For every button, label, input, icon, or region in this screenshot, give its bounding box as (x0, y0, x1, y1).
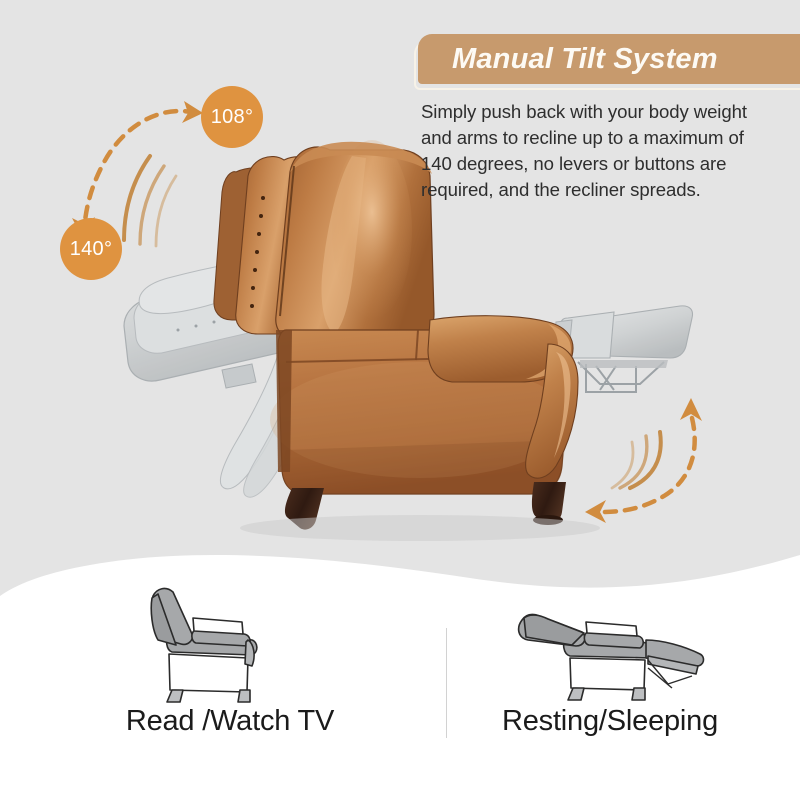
mode-label-resting-sleeping: Resting/Sleeping (450, 705, 770, 738)
top-background-panel (0, 0, 800, 620)
angle-badge-140: 140° (60, 218, 122, 280)
upright-chair-icon (151, 589, 257, 702)
mode-label-read-watch-tv: Read /Watch TV (60, 705, 400, 738)
banner-fill: Manual Tilt System (418, 34, 800, 84)
angle-badge-108: 108° (201, 86, 263, 148)
reclined-chair-icon (519, 614, 704, 700)
header-banner: Manual Tilt System (414, 34, 800, 90)
mode-divider (446, 628, 447, 738)
page-title: Manual Tilt System (452, 43, 718, 76)
description-text: Simply push back with your body weight a… (421, 99, 773, 203)
infographic-canvas: Manual Tilt System Simply push back with… (0, 0, 800, 800)
